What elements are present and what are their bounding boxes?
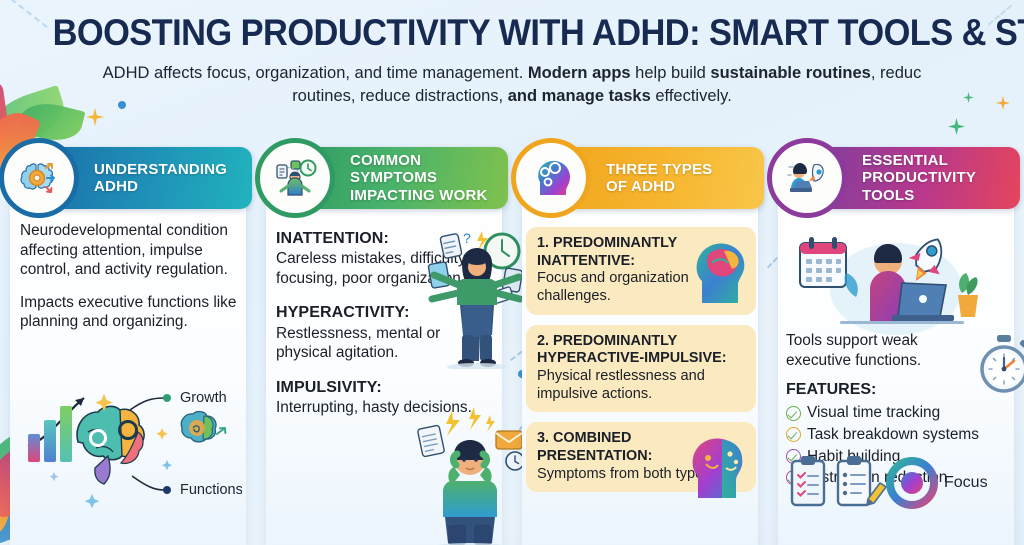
symptom-text: Restlessness, mental or physical agitati… bbox=[276, 325, 440, 362]
subtitle-text: ADHD affects focus, organization, and ti… bbox=[103, 64, 528, 82]
page-subtitle: ADHD affects focus, organization, and ti… bbox=[82, 62, 942, 108]
subtitle-text: help build bbox=[631, 64, 711, 82]
card-body-common-symptoms: INATTENTION: Careless mistakes, difficul… bbox=[276, 229, 498, 541]
paragraph: Impacts executive functions like plannin… bbox=[20, 293, 242, 332]
check-circle-icon bbox=[786, 449, 801, 464]
subtitle-text: effectively. bbox=[651, 87, 732, 105]
symptom-item: HYPERACTIVITY: Restlessness, mental or p… bbox=[276, 303, 498, 362]
check-circle-icon bbox=[786, 406, 801, 421]
feature-item[interactable]: Task breakdown systems bbox=[786, 425, 1020, 445]
feature-item[interactable]: Distraction reduction bbox=[786, 468, 1020, 488]
symptom-lead: INATTENTION: bbox=[276, 229, 498, 249]
badge-understanding-adhd[interactable]: UNDERSTANDING ADHD bbox=[38, 147, 252, 209]
feature-label: Visual time tracking bbox=[807, 403, 940, 423]
type-text: Physical restlessness and impulsive acti… bbox=[537, 368, 705, 402]
symptom-item: IMPULSIVITY: Interrupting, hasty decisio… bbox=[276, 378, 498, 418]
column-common-symptoms: COMMON SYMPTOMS IMPACTING WORK INATTENTI… bbox=[256, 143, 512, 545]
card-body-understanding-adhd: Neurodevelopmental condition affecting a… bbox=[20, 221, 242, 541]
type-text: Symptoms from both types. bbox=[537, 466, 715, 482]
badge-productivity-tools[interactable]: ESSENTIAL PRODUCTIVITY TOOLS bbox=[806, 147, 1020, 209]
check-circle-icon bbox=[786, 427, 801, 442]
symptom-text: Careless mistakes, difficulty focusing, … bbox=[276, 250, 466, 287]
feature-label: Habit building bbox=[807, 447, 900, 467]
subtitle-emphasis: sustainable routines bbox=[710, 64, 870, 82]
badge-common-symptoms[interactable]: COMMON SYMPTOMS IMPACTING WORK bbox=[294, 147, 508, 209]
features-heading: FEATURES: bbox=[786, 380, 1020, 400]
infographic-poster: BOOSTING PRODUCTIVITY WITH ADHD: SMART T… bbox=[0, 0, 1024, 545]
symptom-lead: HYPERACTIVITY: bbox=[276, 303, 498, 323]
symptom-item: INATTENTION: Careless mistakes, difficul… bbox=[276, 229, 498, 288]
person-juggling-tasks-icon bbox=[260, 143, 330, 213]
card-body-three-types: 1. PREDOMINANTLY INATTENTIVE: Focus and … bbox=[526, 227, 756, 541]
subtitle-emphasis: and manage tasks bbox=[508, 87, 651, 105]
type-text: Focus and organization challenges. bbox=[537, 270, 689, 304]
feature-item[interactable]: Visual time tracking bbox=[786, 403, 1020, 423]
poster-header: BOOSTING PRODUCTIVITY WITH ADHD: SMART T… bbox=[0, 0, 1024, 107]
check-circle-icon bbox=[786, 470, 801, 485]
card-body-productivity-tools: Tools support weak executive functions. … bbox=[786, 331, 1020, 541]
feature-item[interactable]: Habit building bbox=[786, 447, 1020, 467]
sparkle-icon bbox=[86, 108, 104, 126]
badge-title: THREE TYPES OF ADHD bbox=[606, 161, 712, 196]
brain-gear-arrows-icon bbox=[4, 143, 74, 213]
badge-three-types[interactable]: THREE TYPES OF ADHD bbox=[550, 147, 764, 209]
illustration-label-growth: Growth bbox=[180, 389, 227, 407]
type-box-inattentive[interactable]: 1. PREDOMINANTLY INATTENTIVE: Focus and … bbox=[526, 227, 756, 315]
type-box-hyperactive[interactable]: 2. PREDOMINANTLY HYPERACTIVE-IMPULSIVE: … bbox=[526, 325, 756, 413]
badge-title: COMMON SYMPTOMS IMPACTING WORK bbox=[350, 152, 488, 204]
type-lead: 3. COMBINED PRESENTATION: bbox=[537, 430, 746, 465]
feature-label: Task breakdown systems bbox=[807, 425, 979, 445]
badge-title: ESSENTIAL PRODUCTIVITY TOOLS bbox=[862, 152, 976, 204]
type-lead: 2. PREDOMINANTLY HYPERACTIVE-IMPULSIVE: bbox=[537, 333, 746, 368]
column-understanding-adhd: UNDERSTANDING ADHD Neurodevelopmental co… bbox=[0, 143, 256, 545]
type-box-combined[interactable]: 3. COMBINED PRESENTATION: Symptoms from … bbox=[526, 422, 756, 492]
brain-growth-chart-illustration: Growth Functions bbox=[20, 376, 242, 516]
page-title: BOOSTING PRODUCTIVITY WITH ADHD: SMART T… bbox=[53, 14, 972, 53]
type-lead: 1. PREDOMINANTLY INATTENTIVE: bbox=[537, 235, 746, 270]
subtitle-emphasis: Modern apps bbox=[528, 64, 631, 82]
columns-container: UNDERSTANDING ADHD Neurodevelopmental co… bbox=[0, 143, 1024, 545]
symptom-text: Interrupting, hasty decisions. bbox=[276, 399, 472, 416]
column-productivity-tools: ESSENTIAL PRODUCTIVITY TOOLS bbox=[768, 143, 1024, 545]
illustration-label-functions: Functions bbox=[180, 481, 242, 499]
person-laptop-rocket-icon bbox=[772, 143, 842, 213]
feature-label: Distraction reduction bbox=[807, 468, 947, 488]
symptom-lead: IMPULSIVITY: bbox=[276, 378, 498, 398]
sparkle-icon bbox=[948, 118, 965, 135]
head-gears-icon bbox=[516, 143, 586, 213]
column-three-types: THREE TYPES OF ADHD 1. PREDOMINANTLY INA… bbox=[512, 143, 768, 545]
paragraph: Neurodevelopmental condition affecting a… bbox=[20, 221, 242, 280]
badge-title: UNDERSTANDING ADHD bbox=[94, 161, 227, 196]
intro-text: Tools support weak executive functions. bbox=[786, 331, 938, 370]
